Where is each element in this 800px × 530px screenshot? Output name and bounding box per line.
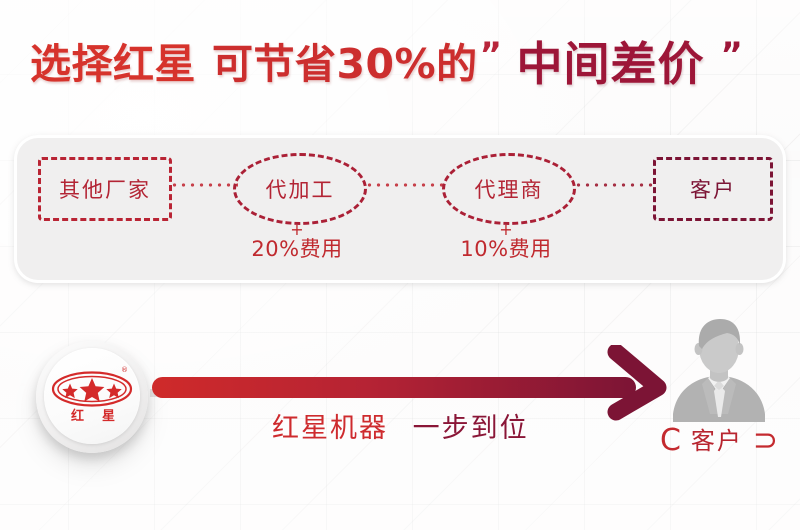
bracket-left-icon: C bbox=[660, 426, 681, 456]
flow-node-other-factory: 其他厂家 bbox=[38, 157, 172, 221]
flow-connector-1 bbox=[170, 183, 238, 187]
registered-trademark-icon: ® bbox=[121, 366, 128, 374]
flow-node-oem: 代加工 bbox=[233, 153, 367, 225]
quote-open-mark: ” bbox=[480, 35, 503, 75]
flow-connector-2 bbox=[365, 183, 446, 187]
quote-close-mark: ” bbox=[721, 35, 744, 75]
headline-part-3: 中间差价 bbox=[517, 41, 705, 87]
customer-label: 客户 bbox=[691, 429, 743, 453]
bracket-right-icon: ⊃ bbox=[753, 426, 778, 456]
flow-node-agent: 代理商 bbox=[442, 153, 576, 225]
page-title: 选择红星 可节省30%的 ” 中间差价 ” bbox=[30, 33, 743, 95]
hongxing-logo-badge: 红 星 ® bbox=[36, 341, 148, 453]
logo-mark-icon: 红 星 bbox=[49, 366, 135, 426]
logo-brand-left: 红 bbox=[71, 408, 84, 424]
logo-inner-disc: 红 星 ® bbox=[44, 348, 140, 444]
flow-node-label: 其他厂家 bbox=[59, 174, 151, 204]
headline-part-1: 选择红星 bbox=[30, 44, 196, 85]
flow-node-label: 代理商 bbox=[475, 174, 544, 204]
flow-node-customer: 客户 bbox=[653, 157, 773, 221]
fee-amount: 10%费用 bbox=[426, 236, 586, 262]
supply-chain-panel: 其他厂家 代加工 + 20%费用 代理商 + 10%费用 客户 bbox=[14, 135, 786, 283]
flow-fee-agent: + 10%费用 bbox=[426, 223, 586, 262]
customer-avatar bbox=[664, 318, 774, 426]
logo-brand-right: 星 bbox=[102, 409, 115, 424]
flow-connector-3 bbox=[574, 183, 656, 187]
businessman-icon bbox=[664, 318, 774, 426]
flow-node-label: 代加工 bbox=[266, 174, 335, 204]
customer-label-group: C 客户 ⊃ bbox=[648, 424, 790, 458]
fee-plus-sign: + bbox=[217, 223, 377, 236]
bottom-slogan: 红星机器 一步到位 bbox=[272, 406, 529, 445]
slogan-claim: 一步到位 bbox=[413, 413, 529, 444]
headline-part-2: 可节省30%的 bbox=[212, 44, 478, 85]
poster-canvas: 选择红星 可节省30%的 ” 中间差价 ” 其他厂家 代加工 + 20%费用 代… bbox=[0, 0, 800, 530]
fee-amount: 20%费用 bbox=[217, 236, 377, 262]
flow-node-label: 客户 bbox=[690, 174, 736, 204]
flow-fee-oem: + 20%费用 bbox=[217, 223, 377, 262]
slogan-brand: 红星机器 bbox=[272, 413, 388, 444]
fee-plus-sign: + bbox=[426, 223, 586, 236]
